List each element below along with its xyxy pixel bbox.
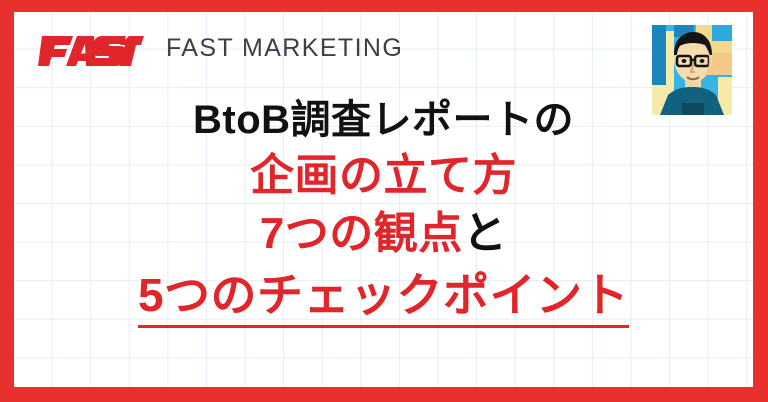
headline-line-1: BtoB調査レポートの: [14, 100, 753, 140]
headline-line-2: 企画の立て方: [14, 154, 753, 198]
headline-line-4: 5つのチェックポイント: [138, 272, 629, 328]
headline-block: BtoB調査レポートの 企画の立て方 7つの観点と 5つのチェックポイント: [14, 100, 753, 328]
headline-line-3-red: 7つの観点: [260, 209, 463, 258]
header: FAST MARKETING: [38, 26, 403, 70]
fast-logo-icon: [38, 26, 144, 70]
headline-line-3-black: と: [463, 209, 508, 258]
slide-banner: FAST MARKETING: [0, 0, 768, 402]
headline-line-4-row: 5つのチェックポイント: [14, 272, 753, 328]
grid-canvas: FAST MARKETING: [14, 12, 753, 387]
headline-line-3: 7つの観点と: [14, 212, 753, 256]
brand-name-label: FAST MARKETING: [166, 36, 403, 61]
